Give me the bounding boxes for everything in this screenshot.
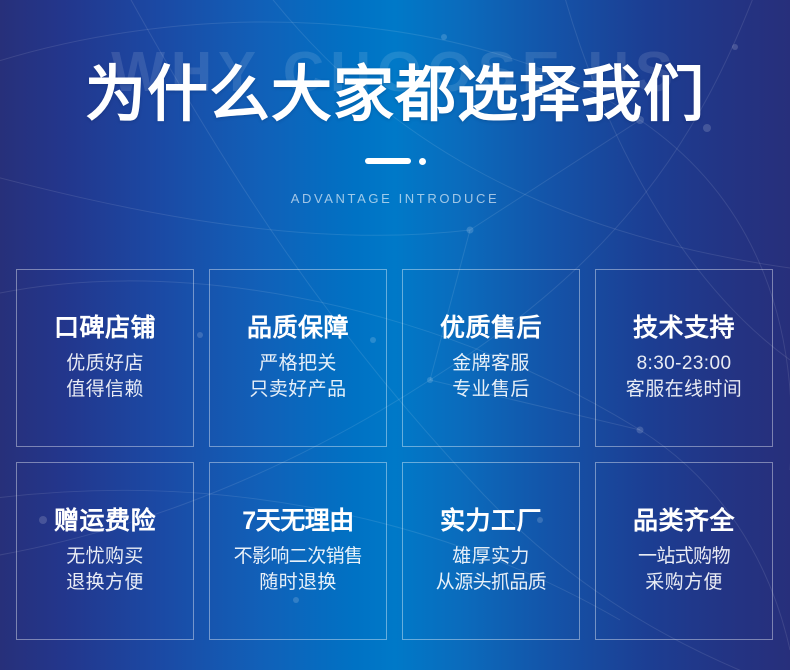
advantage-card-8[interactable]: 品类齐全 一站式购物 采购方便: [595, 462, 773, 640]
advantage-card-4[interactable]: 技术支持 8:30-23:00 客服在线时间: [595, 269, 773, 447]
card-line-1: 8:30-23:00: [637, 351, 732, 377]
card-title: 技术支持: [633, 314, 735, 342]
header-section: WHY CHOOSE US 为什么大家都选择我们 ADVANTAGE INTRO…: [0, 0, 790, 260]
advantage-card-7[interactable]: 实力工厂 雄厚实力 从源头抓品质: [402, 462, 580, 640]
page-subtitle: ADVANTAGE INTRODUCE: [0, 191, 790, 206]
advantage-card-grid: 口碑店铺 优质好店 值得信赖 品质保障 严格把关 只卖好产品 优质售后 金牌客服…: [16, 269, 773, 640]
card-line-2: 客服在线时间: [626, 377, 742, 403]
card-line-2: 随时退换: [259, 570, 337, 596]
card-title: 口碑店铺: [54, 314, 156, 342]
card-line-1: 不影响二次销售: [234, 544, 363, 570]
divider-bar: [365, 158, 411, 164]
card-line-2: 退换方便: [66, 570, 144, 596]
card-title: 实力工厂: [440, 507, 542, 535]
divider-dot: [419, 158, 426, 165]
card-title: 优质售后: [440, 314, 542, 342]
card-line-2: 从源头抓品质: [436, 570, 546, 596]
card-line-1: 无忧购买: [66, 544, 144, 570]
card-title: 赠运费险: [54, 507, 156, 535]
card-line-2: 采购方便: [645, 570, 723, 596]
card-line-1: 优质好店: [66, 351, 144, 377]
advantage-card-2[interactable]: 品质保障 严格把关 只卖好产品: [209, 269, 387, 447]
card-title: 7天无理由: [242, 507, 353, 535]
card-line-2: 专业售后: [452, 377, 530, 403]
card-line-1: 严格把关: [259, 351, 337, 377]
card-title: 品质保障: [247, 314, 349, 342]
card-line-1: 雄厚实力: [452, 544, 530, 570]
card-line-1: 一站式购物: [638, 544, 730, 570]
advantage-card-1[interactable]: 口碑店铺 优质好店 值得信赖: [16, 269, 194, 447]
card-line-2: 只卖好产品: [249, 377, 346, 403]
title-divider: [0, 156, 790, 166]
advantage-banner: WHY CHOOSE US 为什么大家都选择我们 ADVANTAGE INTRO…: [0, 0, 790, 670]
card-title: 品类齐全: [633, 507, 735, 535]
advantage-card-3[interactable]: 优质售后 金牌客服 专业售后: [402, 269, 580, 447]
card-line-2: 值得信赖: [66, 377, 144, 403]
advantage-card-5[interactable]: 赠运费险 无忧购买 退换方便: [16, 462, 194, 640]
advantage-card-6[interactable]: 7天无理由 不影响二次销售 随时退换: [209, 462, 387, 640]
page-title: 为什么大家都选择我们: [0, 64, 790, 125]
card-line-1: 金牌客服: [452, 351, 530, 377]
